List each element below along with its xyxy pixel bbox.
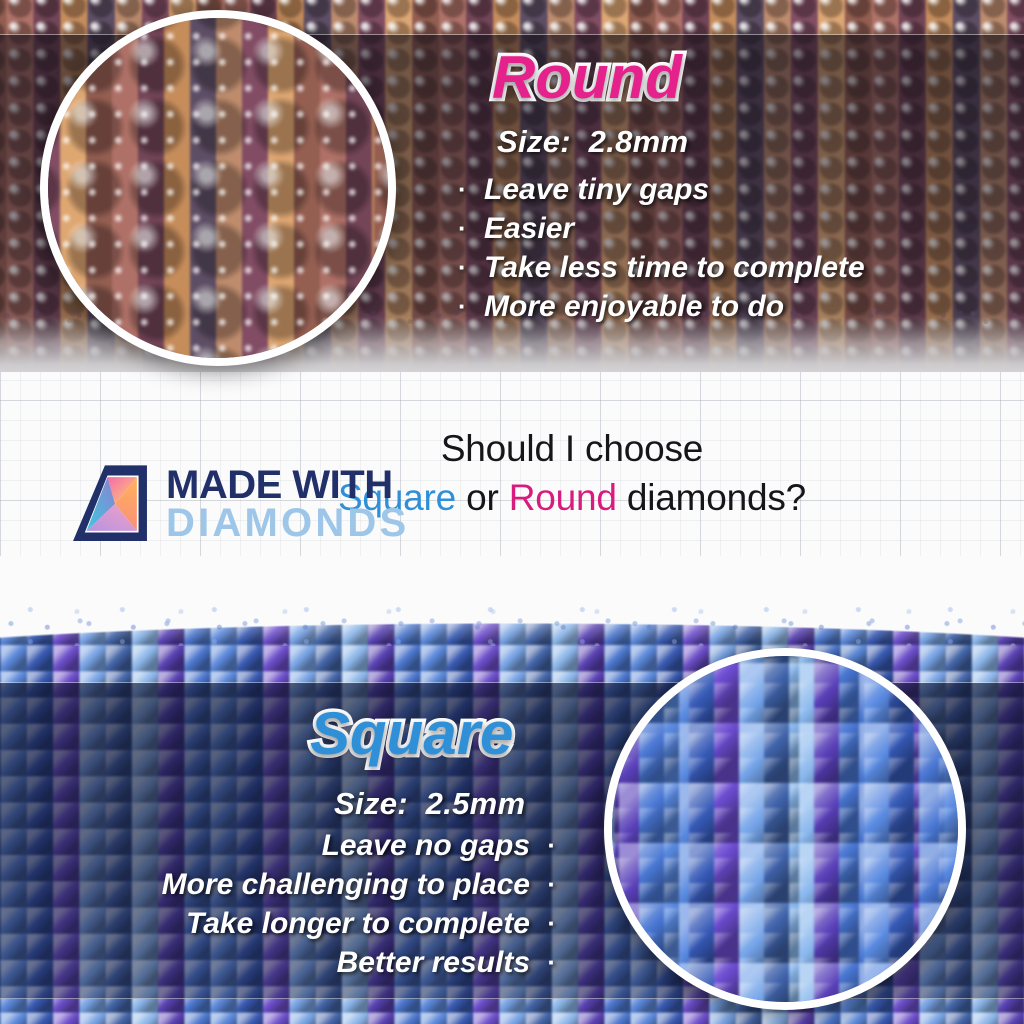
- round-section-title: Round: [492, 48, 682, 108]
- square-drill-magnifier: [604, 648, 966, 1010]
- bullet-icon: ·: [458, 170, 484, 209]
- infographic-canvas: Round Size: 2.8mm · Leave tiny gaps · Ea…: [0, 0, 1024, 1024]
- bullet-icon: ·: [530, 943, 556, 982]
- brand-line-diamonds: DIAMONDS: [166, 504, 409, 542]
- list-item-label: Take longer to complete: [186, 904, 530, 943]
- square-drill-magnified-photo: [604, 648, 966, 1010]
- square-section-title: Square: [310, 704, 513, 764]
- question-conjunction: or: [456, 477, 509, 518]
- square-feature-list: Leave no gaps · More challenging to plac…: [0, 826, 556, 982]
- round-drill-magnifier: [40, 10, 396, 366]
- list-item: · Leave tiny gaps: [458, 170, 865, 209]
- square-size-label: Size: 2.5mm: [334, 786, 525, 822]
- list-item: · Easier: [458, 209, 865, 248]
- bullet-icon: ·: [530, 904, 556, 943]
- list-item: Better results ·: [0, 943, 556, 982]
- diamond-logo-mark-icon: [68, 462, 152, 546]
- bullet-icon: ·: [458, 287, 484, 326]
- question-round-word: Round: [509, 477, 617, 518]
- list-item: · More enjoyable to do: [458, 287, 865, 326]
- list-item-label: Leave tiny gaps: [484, 170, 709, 209]
- brand-logo-text: MADE WITH DIAMONDS: [166, 466, 409, 543]
- bullet-icon: ·: [530, 826, 556, 865]
- round-drill-magnified-photo: [40, 10, 396, 366]
- list-item: · Take less time to complete: [458, 248, 865, 287]
- bullet-icon: ·: [458, 209, 484, 248]
- list-item: Take longer to complete ·: [0, 904, 556, 943]
- round-feature-list: · Leave tiny gaps · Easier · Take less t…: [458, 170, 865, 326]
- square-band-speckles: [0, 600, 1024, 646]
- list-item: More challenging to place ·: [0, 865, 556, 904]
- list-item-label: Take less time to complete: [484, 248, 865, 287]
- list-item-label: Leave no gaps: [322, 826, 530, 865]
- bullet-icon: ·: [458, 248, 484, 287]
- bullet-icon: ·: [530, 865, 556, 904]
- round-size-label: Size: 2.8mm: [497, 124, 688, 160]
- list-item-label: More challenging to place: [162, 865, 530, 904]
- list-item-label: More enjoyable to do: [484, 287, 784, 326]
- brand-line-made-with: MADE WITH: [166, 466, 409, 504]
- brand-logo: MADE WITH DIAMONDS: [68, 462, 409, 546]
- list-item: Leave no gaps ·: [0, 826, 556, 865]
- question-tail: diamonds?: [617, 477, 806, 518]
- list-item-label: Easier: [484, 209, 574, 248]
- list-item-label: Better results: [337, 943, 530, 982]
